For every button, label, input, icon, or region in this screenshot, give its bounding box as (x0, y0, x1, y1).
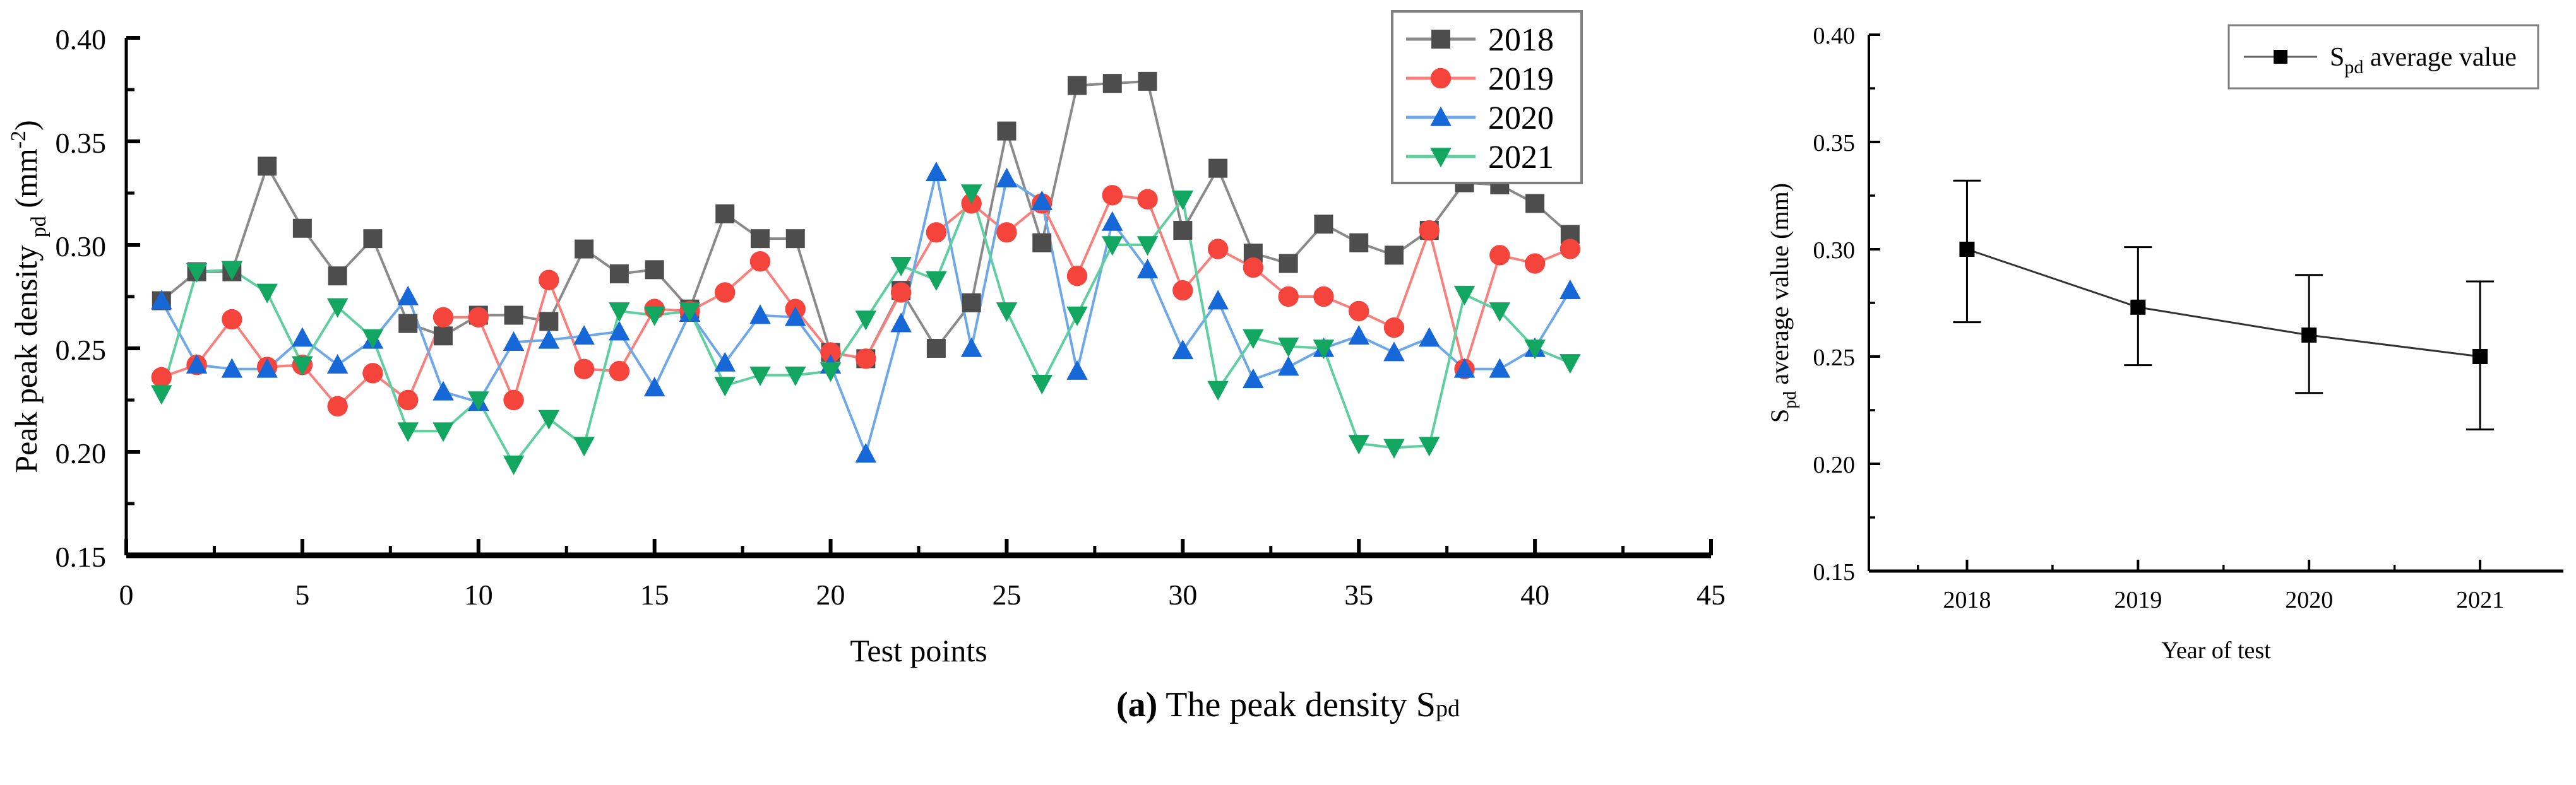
x-axis-title: Test points (850, 633, 987, 668)
data-point-2018-9 (434, 326, 453, 345)
figure-container: 0.150.200.250.300.350.400510152025303540… (0, 0, 2576, 785)
data-point-2020-5 (292, 327, 313, 346)
data-point-2020-24 (961, 338, 982, 357)
x-tick-label: 25 (992, 579, 1021, 611)
data-point-2021-13 (573, 437, 595, 456)
data-point-2018-15 (645, 260, 664, 279)
data-point-2018-7 (363, 229, 382, 248)
data-point-2019-34 (1313, 286, 1333, 307)
data-point-2018-28 (1103, 74, 1122, 93)
data-point-2021-41 (1559, 354, 1581, 374)
data-point-2018-17 (715, 204, 734, 223)
data-point-2019-14 (609, 361, 629, 381)
data-point-2021-25 (996, 302, 1018, 322)
y-tick-label: 0.15 (56, 541, 107, 573)
data-point-2018-34 (1314, 215, 1333, 233)
left-legend: 2018201920202021 (1392, 11, 1582, 183)
data-point-2021 (2472, 349, 2488, 364)
data-point-2019-17 (715, 282, 735, 302)
data-point-2020-8 (397, 286, 419, 305)
legend-label: 2020 (1488, 100, 1554, 136)
data-point-2021-31 (1207, 381, 1229, 401)
data-point-2021-21 (856, 310, 877, 330)
data-point-2019-8 (398, 390, 418, 410)
legend-marker-2019 (1431, 68, 1451, 88)
data-point-2019-41 (1560, 239, 1580, 259)
svg-text:Spd average value (mm): Spd average value (mm) (1765, 183, 1800, 423)
data-point-2019-1 (152, 367, 172, 387)
data-point-2021-38 (1454, 286, 1476, 305)
data-point-2019-30 (1172, 280, 1193, 300)
data-point-2018-33 (1279, 254, 1298, 273)
y-tick-label: 0.15 (1813, 559, 1856, 586)
y-tick-label: 0.30 (1813, 237, 1856, 264)
data-point-2018-11 (504, 306, 523, 325)
legend-label: 2021 (1488, 139, 1554, 175)
y-axis-title: Peak peak density pd (mm-2) (7, 120, 51, 473)
data-point-2019-3 (222, 309, 242, 329)
x-tick-label: 15 (640, 579, 669, 611)
caption-label: (a) (1116, 685, 1157, 724)
data-point-2019-40 (1525, 253, 1545, 273)
data-point-2019 (2130, 300, 2145, 315)
data-point-2018-6 (328, 266, 347, 285)
data-point-2021-27 (1066, 307, 1088, 326)
y-tick-label: 0.25 (1813, 345, 1856, 371)
data-point-2019-10 (468, 307, 489, 328)
data-point-2020-27 (1066, 360, 1088, 380)
x-tick-label: 2020 (2285, 587, 2333, 613)
data-point-2020 (2301, 328, 2317, 343)
data-point-2021-1 (151, 385, 172, 404)
data-point-2018-25 (997, 122, 1016, 141)
data-point-2020-6 (327, 354, 349, 374)
data-point-2020-41 (1559, 280, 1581, 299)
series-markers-2019 (152, 185, 1581, 416)
x-tick-label: 30 (1168, 579, 1197, 611)
data-point-2019-9 (433, 307, 453, 328)
right-chart-canvas: 0.150.200.250.300.350.402018201920202021… (1762, 0, 2576, 669)
data-point-2019-31 (1208, 239, 1228, 259)
x-tick-label: 20 (816, 579, 845, 611)
x-tick-label: 40 (1520, 579, 1549, 611)
series-line (1967, 249, 2480, 357)
right-axes: 0.150.200.250.300.350.402018201920202021… (1765, 23, 2563, 664)
data-point-2018-24 (962, 293, 981, 312)
data-point-2019-28 (1102, 185, 1123, 205)
data-point-2018-8 (398, 314, 417, 333)
caption-text: The peak density S (1157, 685, 1436, 724)
data-point-2020-32 (1243, 369, 1264, 388)
data-point-2019-25 (996, 222, 1017, 242)
data-point-2018-4 (258, 156, 277, 175)
caption-subscript: pd (1436, 695, 1460, 722)
right-legend: Spd average value (2229, 25, 2538, 88)
y-tick-label: 0.40 (1813, 23, 1856, 49)
y-tick-label: 0.20 (56, 437, 107, 469)
data-point-2019-35 (1349, 301, 1369, 321)
data-point-2020-9 (432, 381, 454, 401)
data-point-2018-27 (1068, 76, 1087, 95)
data-point-2021-4 (256, 284, 278, 304)
data-point-2019-12 (539, 270, 559, 290)
data-point-2018-23 (927, 339, 946, 358)
data-point-2019-39 (1489, 245, 1510, 265)
data-point-2019-27 (1067, 266, 1087, 286)
y-tick-label: 0.40 (56, 23, 107, 56)
data-point-2018-35 (1349, 233, 1368, 252)
data-point-2021-11 (503, 456, 525, 475)
data-point-2019-11 (503, 390, 523, 410)
y-tick-label: 0.35 (1813, 130, 1856, 156)
data-point-2018-26 (1032, 233, 1051, 252)
x-axis-title: Year of test (2161, 637, 2271, 664)
y-tick-label: 0.20 (1813, 452, 1856, 478)
data-point-2018-5 (293, 219, 312, 238)
x-tick-label: 10 (464, 579, 493, 611)
data-point-2021-36 (1383, 439, 1405, 459)
data-point-2018-31 (1208, 159, 1227, 178)
x-tick-label: 45 (1696, 579, 1726, 611)
left-chart-canvas: 0.150.200.250.300.350.400510152025303540… (0, 0, 1743, 669)
data-point-2021-22 (890, 257, 912, 276)
x-tick-label: 0 (119, 579, 134, 611)
data-point-2019-7 (362, 363, 383, 383)
data-point-2021-26 (1031, 375, 1052, 394)
data-point-2020-21 (856, 443, 877, 463)
y-axis-title: Spd average value (mm) (1765, 183, 1800, 423)
data-point-2018-18 (751, 229, 770, 248)
data-point-2018-29 (1138, 72, 1157, 91)
data-point-2020-31 (1207, 290, 1229, 309)
data-point-2020-36 (1383, 341, 1405, 361)
data-point-2020-23 (926, 162, 947, 181)
series-markers-2021 (151, 184, 1581, 475)
x-tick-label: 2021 (2456, 587, 2504, 613)
x-tick-label: 2018 (1943, 587, 1991, 613)
data-point-2019-32 (1243, 257, 1263, 278)
data-point-2019-36 (1384, 317, 1404, 338)
spd-average-series (1953, 180, 2494, 429)
data-point-2019-6 (327, 396, 347, 416)
legend-label: 2019 (1488, 61, 1554, 97)
data-point-2019-23 (926, 222, 946, 242)
data-point-2020-15 (644, 377, 665, 396)
data-point-2021-17 (714, 377, 736, 396)
data-point-2018-30 (1173, 221, 1192, 240)
x-tick-label: 35 (1344, 579, 1373, 611)
y-tick-label: 0.25 (56, 334, 107, 366)
data-point-2019-33 (1278, 286, 1298, 307)
svg-text:Peak peak density pd (mm-2): Peak peak density pd (mm-2) (7, 120, 51, 473)
x-tick-label: 5 (295, 579, 309, 611)
y-tick-label: 0.35 (56, 127, 107, 159)
data-point-2019-37 (1419, 220, 1440, 240)
legend-marker-spd-average (2274, 50, 2287, 64)
data-point-2020-33 (1278, 356, 1299, 375)
data-point-2020-14 (609, 321, 630, 341)
data-point-2020-18 (749, 304, 771, 324)
data-point-2019-29 (1137, 189, 1157, 210)
peak-density-scatter-chart: 0.150.200.250.300.350.400510152025303540… (0, 0, 1743, 669)
x-tick-label: 2019 (2114, 587, 2162, 613)
data-point-2018 (1959, 242, 1974, 257)
spd-average-chart: 0.150.200.250.300.350.402018201920202021… (1762, 0, 2576, 669)
data-point-2019-18 (750, 251, 770, 271)
data-point-2019-22 (891, 282, 911, 302)
figure-caption: (a) The peak density Spd (0, 685, 2576, 725)
data-point-2021-23 (926, 271, 947, 291)
data-point-2018-40 (1525, 194, 1544, 213)
data-point-2020-35 (1348, 325, 1369, 345)
legend-label: 2018 (1488, 22, 1554, 58)
data-point-2018-12 (539, 312, 558, 331)
data-point-2019-21 (856, 348, 876, 369)
data-point-2020-22 (890, 312, 912, 332)
y-tick-label: 0.30 (56, 230, 107, 263)
data-point-2018-14 (610, 264, 629, 283)
data-point-2020-37 (1419, 327, 1440, 346)
data-point-2020-30 (1172, 339, 1194, 359)
data-point-2018-13 (575, 240, 593, 259)
data-point-2018-19 (786, 229, 805, 248)
data-point-2019-13 (574, 359, 594, 379)
legend-marker-2018 (1431, 30, 1450, 49)
data-point-2018-36 (1385, 245, 1404, 264)
